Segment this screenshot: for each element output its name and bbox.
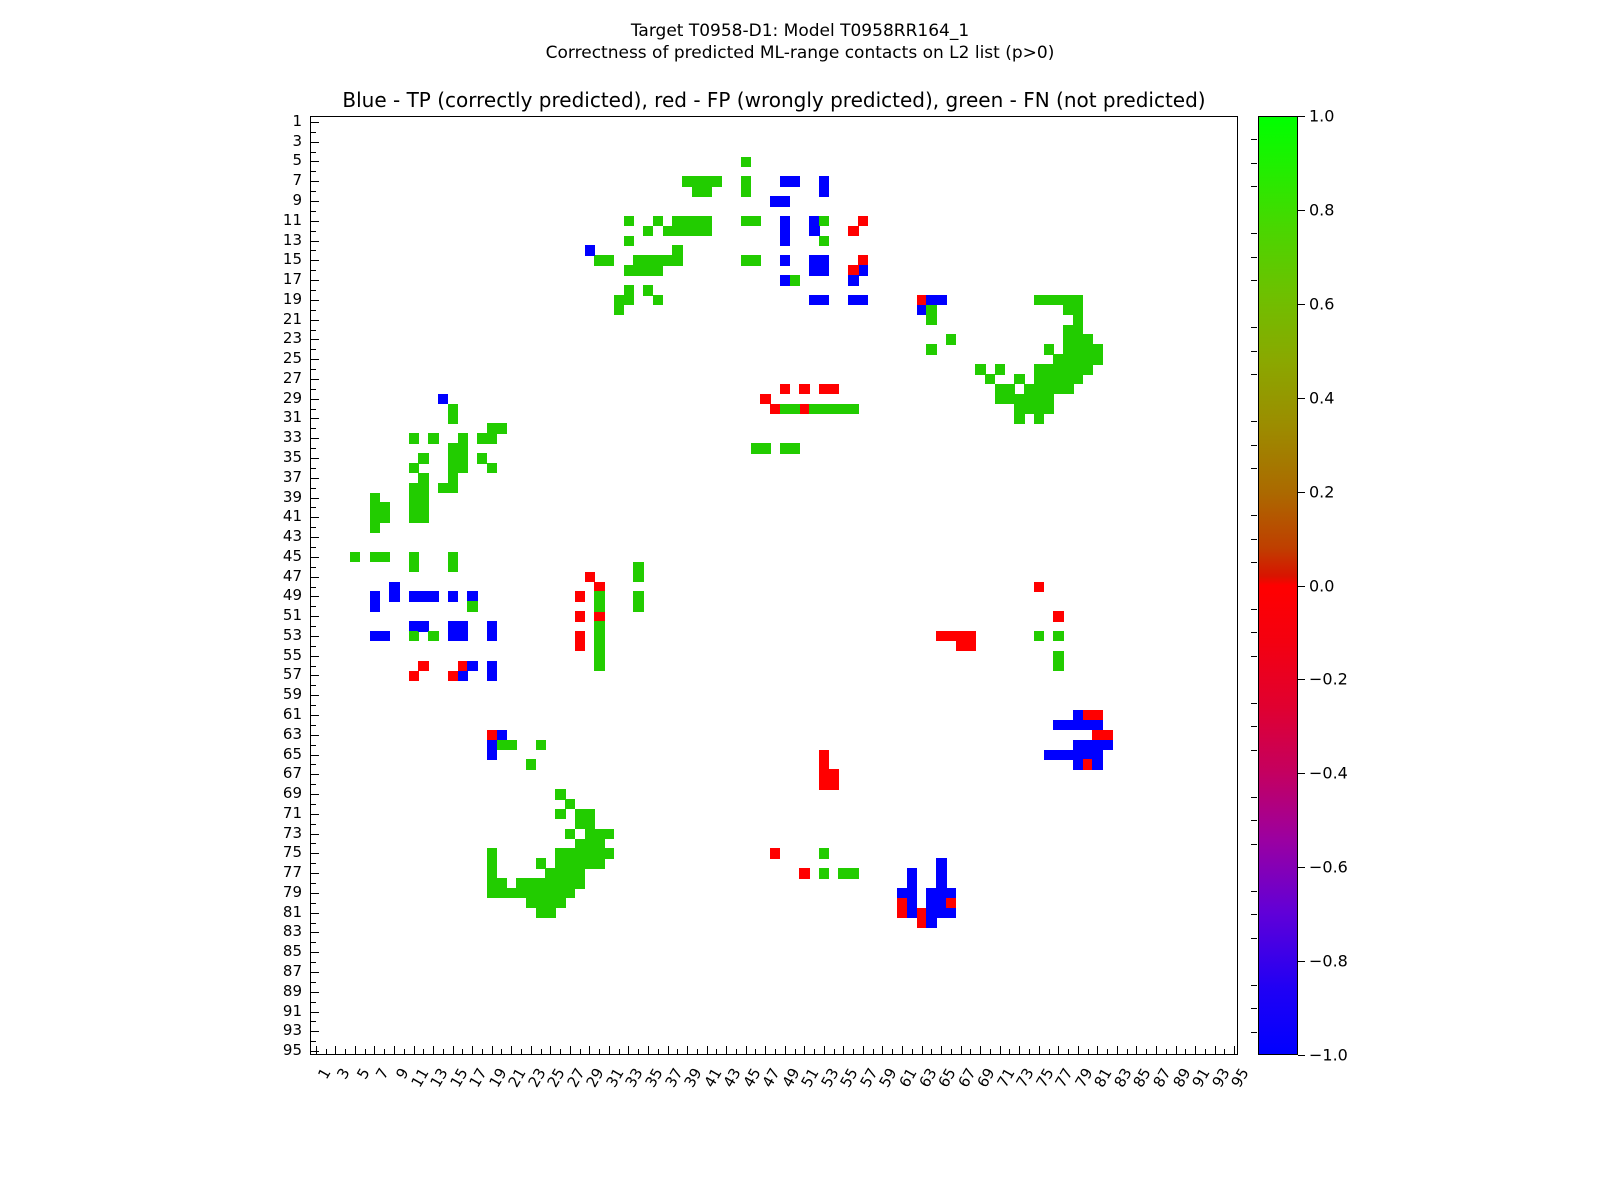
- y-axis-tick: [311, 992, 319, 993]
- contact-cell: [926, 295, 936, 305]
- x-axis-tick: [1058, 1046, 1059, 1054]
- colorbar-minor-tick: [1251, 914, 1257, 915]
- y-axis-tick-label: 95: [250, 1041, 302, 1059]
- x-axis-tick: [726, 1046, 727, 1054]
- y-axis-tick: [311, 369, 316, 370]
- colorbar-minor-tick: [1251, 726, 1257, 727]
- colorbar-tick: [1298, 116, 1305, 117]
- y-axis-tick: [311, 804, 316, 805]
- x-axis-tick: [1146, 1049, 1147, 1054]
- y-axis-tick: [311, 923, 316, 924]
- contact-cell: [1092, 759, 1102, 769]
- y-axis-tick: [311, 438, 319, 439]
- contact-cell: [751, 216, 761, 226]
- contact-cell: [497, 730, 507, 740]
- contact-cell: [819, 236, 829, 246]
- contact-cell: [428, 631, 438, 641]
- contact-cell: [975, 364, 985, 374]
- contact-cell: [438, 483, 448, 493]
- colorbar-tick-label: −0.8: [1309, 952, 1348, 971]
- y-axis-tick: [311, 656, 319, 657]
- contact-cell: [409, 562, 419, 572]
- colorbar-minor-tick: [1251, 1032, 1257, 1033]
- contact-cell: [965, 631, 975, 641]
- contact-cell: [370, 512, 380, 522]
- x-axis-tick: [335, 1046, 336, 1054]
- x-axis-tick: [961, 1046, 962, 1054]
- contact-cell: [487, 463, 497, 473]
- y-axis-tick: [311, 547, 316, 548]
- contact-cell: [1005, 384, 1015, 394]
- contact-cell: [780, 216, 790, 226]
- x-axis-tick: [658, 1049, 659, 1054]
- x-axis-tick: [707, 1046, 708, 1054]
- y-axis-tick: [311, 942, 316, 943]
- x-axis-tick: [326, 1049, 327, 1054]
- contact-cell: [575, 868, 585, 878]
- contact-cell: [624, 295, 634, 305]
- contact-cell: [1034, 414, 1044, 424]
- y-axis-tick: [311, 972, 319, 973]
- contact-cell: [907, 908, 917, 918]
- contact-cell: [389, 591, 399, 601]
- x-axis-tick: [1000, 1046, 1001, 1054]
- x-axis-tick: [394, 1046, 395, 1054]
- contact-cell: [1092, 344, 1102, 354]
- contact-cell: [829, 779, 839, 789]
- contact-cell: [946, 334, 956, 344]
- colorbar-minor-tick: [1251, 938, 1257, 939]
- contact-cell: [692, 186, 702, 196]
- contact-cell: [458, 463, 468, 473]
- contact-cell: [477, 453, 487, 463]
- contact-cell: [770, 848, 780, 858]
- contact-cell: [653, 295, 663, 305]
- contact-cell: [819, 384, 829, 394]
- x-axis-tick: [746, 1046, 747, 1054]
- y-axis-tick: [311, 339, 319, 340]
- contact-cell: [497, 423, 507, 433]
- colorbar-minor-tick: [1251, 351, 1257, 352]
- contact-cell: [653, 216, 663, 226]
- colorbar-minor-tick: [1251, 163, 1257, 164]
- y-axis-tick: [311, 161, 319, 162]
- y-axis-tick: [311, 695, 319, 696]
- contact-cell: [858, 295, 868, 305]
- contact-cell: [1073, 295, 1083, 305]
- colorbar-tick-label: −0.2: [1309, 670, 1348, 689]
- x-axis-tick: [775, 1049, 776, 1054]
- contact-cell: [1014, 414, 1024, 424]
- contact-cell: [1083, 334, 1093, 344]
- contact-cell: [965, 641, 975, 651]
- y-axis-tick: [311, 715, 319, 716]
- contact-cell: [946, 908, 956, 918]
- y-axis-tick: [311, 636, 319, 637]
- contact-cell: [702, 186, 712, 196]
- contact-cell: [829, 384, 839, 394]
- y-axis-tick-label: 73: [250, 824, 302, 842]
- x-axis-tick: [785, 1046, 786, 1054]
- contact-cell: [487, 671, 497, 681]
- contact-cell: [819, 186, 829, 196]
- y-axis-tick: [311, 606, 316, 607]
- y-axis-tick: [311, 527, 316, 528]
- colorbar-minor-tick: [1251, 233, 1257, 234]
- contact-cell: [379, 552, 389, 562]
- x-axis-tick: [453, 1046, 454, 1054]
- y-axis-tick: [311, 666, 316, 667]
- contact-cell: [936, 295, 946, 305]
- colorbar-minor-tick: [1251, 985, 1257, 986]
- contact-cell: [487, 433, 497, 443]
- contact-cell: [370, 522, 380, 532]
- contact-cell: [790, 176, 800, 186]
- y-axis-tick-label: 3: [250, 132, 302, 150]
- contact-cell: [780, 196, 790, 206]
- contact-cell: [760, 394, 770, 404]
- colorbar-tick-label: 1.0: [1309, 107, 1334, 126]
- contact-cell: [555, 789, 565, 799]
- colorbar-tick-label: −0.6: [1309, 858, 1348, 877]
- colorbar-tick-label: 0.8: [1309, 200, 1334, 219]
- y-axis-tick-label: 67: [250, 764, 302, 782]
- y-axis-tick-label: 65: [250, 745, 302, 763]
- x-axis-tick: [580, 1049, 581, 1054]
- contact-cell: [594, 631, 604, 641]
- x-axis-tick: [863, 1046, 864, 1054]
- y-axis-tick: [311, 221, 319, 222]
- contact-cell: [555, 898, 565, 908]
- contact-cell: [1053, 661, 1063, 671]
- x-axis-tick: [492, 1046, 493, 1054]
- y-axis-tick-label: 93: [250, 1021, 302, 1039]
- contact-cell: [1044, 394, 1054, 404]
- contact-cell: [438, 394, 448, 404]
- contact-cell: [819, 265, 829, 275]
- y-axis-tick: [311, 1031, 319, 1032]
- x-axis-tick: [736, 1049, 737, 1054]
- contact-cell: [907, 888, 917, 898]
- y-axis-tick-label: 79: [250, 883, 302, 901]
- x-axis-tick: [1185, 1049, 1186, 1054]
- y-axis-tick-label: 61: [250, 705, 302, 723]
- contact-cell: [594, 601, 604, 611]
- x-axis-tick: [374, 1046, 375, 1054]
- x-axis-tick: [609, 1046, 610, 1054]
- contact-cell: [575, 591, 585, 601]
- contact-cell: [448, 473, 458, 483]
- y-axis-tick: [311, 577, 319, 578]
- y-axis-tick: [311, 152, 316, 153]
- y-axis-tick: [311, 863, 316, 864]
- y-axis-tick-label: 85: [250, 942, 302, 960]
- y-axis-tick-label: 33: [250, 428, 302, 446]
- y-axis-tick-label: 71: [250, 804, 302, 822]
- colorbar-minor-tick: [1251, 186, 1257, 187]
- y-axis-tick: [311, 745, 316, 746]
- x-axis-tick: [1127, 1049, 1128, 1054]
- contact-cell: [448, 591, 458, 601]
- contact-cell: [594, 661, 604, 671]
- y-axis-tick-label: 55: [250, 646, 302, 664]
- colorbar-minor-tick: [1251, 797, 1257, 798]
- y-axis-tick: [311, 735, 319, 736]
- x-axis-tick: [316, 1046, 317, 1054]
- y-axis-tick-label: 57: [250, 665, 302, 683]
- contact-cell: [780, 384, 790, 394]
- contact-cell: [585, 245, 595, 255]
- y-axis-tick: [311, 468, 316, 469]
- x-axis-tick: [365, 1049, 366, 1054]
- colorbar-tick: [1298, 679, 1305, 680]
- x-axis-tick: [1195, 1046, 1196, 1054]
- x-axis-tick: [638, 1049, 639, 1054]
- contact-cell: [956, 631, 966, 641]
- x-axis-tick: [531, 1046, 532, 1054]
- contact-cell: [633, 572, 643, 582]
- contact-cell: [497, 888, 507, 898]
- y-axis-tick-label: 23: [250, 329, 302, 347]
- colorbar-minor-tick: [1251, 139, 1257, 140]
- plot-area: [310, 116, 1238, 1055]
- contact-cell: [848, 404, 858, 414]
- contact-cell: [487, 848, 497, 858]
- contact-cell: [780, 226, 790, 236]
- contact-cell: [379, 631, 389, 641]
- colorbar-minor-tick: [1251, 609, 1257, 610]
- contact-cell: [819, 216, 829, 226]
- y-axis-tick: [311, 399, 319, 400]
- colorbar-tick: [1298, 210, 1305, 211]
- y-axis-tick: [311, 843, 316, 844]
- y-axis-tick: [311, 478, 319, 479]
- contact-cell: [575, 641, 585, 651]
- contact-cell: [594, 858, 604, 868]
- contact-cell: [467, 661, 477, 671]
- contact-cell: [653, 265, 663, 275]
- y-axis-tick: [311, 646, 316, 647]
- y-axis-tick: [311, 913, 319, 914]
- x-axis-tick: [765, 1046, 766, 1054]
- y-axis-tick: [311, 853, 319, 854]
- colorbar-tick: [1298, 867, 1305, 868]
- contact-cell: [409, 512, 419, 522]
- contact-cell: [741, 157, 751, 167]
- contact-cell: [575, 878, 585, 888]
- x-axis-tick: [521, 1049, 522, 1054]
- contact-cell: [702, 176, 712, 186]
- colorbar-tick-label: −0.4: [1309, 764, 1348, 783]
- x-axis-tick: [384, 1049, 385, 1054]
- contact-cell: [418, 483, 428, 493]
- colorbar-minor-tick: [1251, 703, 1257, 704]
- contact-cell: [760, 443, 770, 453]
- y-axis-tick: [311, 873, 319, 874]
- y-axis-tick: [311, 952, 319, 953]
- x-axis-tick: [941, 1046, 942, 1054]
- contact-cell: [594, 651, 604, 661]
- colorbar-minor-tick: [1251, 257, 1257, 258]
- y-axis-tick: [311, 883, 316, 884]
- y-axis-tick: [311, 458, 319, 459]
- contact-cell: [780, 255, 790, 265]
- y-axis-tick-label: 19: [250, 290, 302, 308]
- x-axis-tick: [560, 1049, 561, 1054]
- y-axis-tick-label: 51: [250, 606, 302, 624]
- y-axis-tick-label: 43: [250, 527, 302, 545]
- y-axis-tick: [311, 260, 319, 261]
- x-axis-tick: [462, 1049, 463, 1054]
- contact-cell: [672, 245, 682, 255]
- x-axis-tick: [1078, 1046, 1079, 1054]
- x-axis-tick: [716, 1049, 717, 1054]
- y-axis-tick: [311, 1021, 316, 1022]
- contact-cell: [526, 759, 536, 769]
- x-axis-tick: [423, 1049, 424, 1054]
- y-axis-tick: [311, 428, 316, 429]
- x-axis-tick: [472, 1046, 473, 1054]
- contact-cell: [819, 176, 829, 186]
- contact-cell: [1102, 730, 1112, 740]
- y-axis-tick-label: 53: [250, 626, 302, 644]
- y-axis-tick: [311, 567, 316, 568]
- x-axis-tick: [931, 1049, 932, 1054]
- contact-cell: [428, 433, 438, 443]
- figure-title-line-1: Target T0958-D1: Model T0958RR164_1: [0, 20, 1600, 42]
- contact-cell: [819, 750, 829, 760]
- x-axis-tick: [912, 1049, 913, 1054]
- contact-cell: [409, 433, 419, 443]
- contact-cell: [829, 404, 839, 414]
- contact-cell: [858, 265, 868, 275]
- y-axis-tick: [311, 270, 316, 271]
- contact-cell: [790, 275, 800, 285]
- contact-cell: [418, 661, 428, 671]
- y-axis-tick: [311, 241, 319, 242]
- contact-cell: [467, 601, 477, 611]
- x-axis-tick: [619, 1049, 620, 1054]
- y-axis-tick: [311, 596, 319, 597]
- contact-cell: [643, 226, 653, 236]
- y-axis-tick-label: 69: [250, 784, 302, 802]
- contact-cell: [672, 255, 682, 265]
- y-axis-tick: [311, 893, 319, 894]
- y-axis-tick: [311, 517, 319, 518]
- y-axis-tick: [311, 824, 316, 825]
- contact-cell: [790, 443, 800, 453]
- y-axis-tick-label: 77: [250, 863, 302, 881]
- contact-cell: [633, 601, 643, 611]
- y-axis-tick-label: 63: [250, 725, 302, 743]
- y-axis-tick: [311, 557, 319, 558]
- contact-cell: [565, 829, 575, 839]
- contact-map-figure: Target T0958-D1: Model T0958RR164_1 Corr…: [0, 0, 1600, 1200]
- contact-cell: [594, 848, 604, 858]
- x-axis-tick: [1097, 1046, 1098, 1054]
- contact-cell: [545, 908, 555, 918]
- contact-cell: [487, 661, 497, 671]
- contact-cell: [448, 414, 458, 424]
- y-axis-tick-label: 27: [250, 369, 302, 387]
- contact-cell: [536, 740, 546, 750]
- contact-cell: [428, 591, 438, 601]
- contact-cell: [848, 868, 858, 878]
- y-axis-tick: [311, 379, 319, 380]
- x-axis-tick: [589, 1046, 590, 1054]
- colorbar-minor-tick: [1251, 844, 1257, 845]
- y-axis-tick: [311, 903, 316, 904]
- colorbar-minor-tick: [1251, 468, 1257, 469]
- colorbar-tick: [1298, 773, 1305, 774]
- y-axis-tick: [311, 320, 319, 321]
- x-axis-tick: [1107, 1049, 1108, 1054]
- contact-cell: [995, 364, 1005, 374]
- y-axis-tick-label: 35: [250, 448, 302, 466]
- contact-cell: [702, 216, 712, 226]
- contact-cell: [594, 582, 604, 592]
- x-axis-tick: [482, 1049, 483, 1054]
- figure-title-line-2: Correctness of predicted ML-range contac…: [0, 42, 1600, 64]
- y-axis-tick-label: 41: [250, 507, 302, 525]
- y-axis-tick-label: 5: [250, 151, 302, 169]
- y-axis-tick-label: 37: [250, 468, 302, 486]
- y-axis-tick: [311, 616, 319, 617]
- y-axis-tick-label: 91: [250, 1002, 302, 1020]
- contact-cell: [1053, 611, 1063, 621]
- x-axis-tick: [1205, 1049, 1206, 1054]
- contact-cell: [594, 611, 604, 621]
- contact-cell: [487, 631, 497, 641]
- y-axis-tick: [311, 211, 316, 212]
- contact-cell: [926, 344, 936, 354]
- contact-cell: [624, 216, 634, 226]
- contact-cell: [799, 384, 809, 394]
- figure-title: Target T0958-D1: Model T0958RR164_1 Corr…: [0, 20, 1600, 64]
- y-axis-tick-label: 1: [250, 112, 302, 130]
- y-axis-tick: [311, 142, 319, 143]
- x-axis-tick: [501, 1049, 502, 1054]
- y-axis-tick-label: 47: [250, 567, 302, 585]
- contact-cell: [614, 305, 624, 315]
- x-axis-tick: [795, 1049, 796, 1054]
- y-axis-tick: [311, 418, 319, 419]
- x-axis-tick: [345, 1049, 346, 1054]
- contact-cell: [555, 809, 565, 819]
- x-axis-tick: [433, 1046, 434, 1054]
- y-axis-tick: [311, 755, 319, 756]
- contact-cell: [829, 769, 839, 779]
- contact-cell: [585, 572, 595, 582]
- x-axis-tick: [843, 1046, 844, 1054]
- y-axis-tick: [311, 774, 319, 775]
- x-axis-tick: [755, 1049, 756, 1054]
- y-axis-tick: [311, 171, 316, 172]
- contact-cell: [448, 483, 458, 493]
- contact-cell: [1063, 384, 1073, 394]
- x-axis-tick: [814, 1049, 815, 1054]
- contact-cell: [1034, 631, 1044, 641]
- y-axis-tick-label: 83: [250, 922, 302, 940]
- contact-cell: [819, 868, 829, 878]
- contact-cell: [926, 315, 936, 325]
- y-axis-tick: [311, 201, 319, 202]
- y-axis-tick: [311, 300, 319, 301]
- contact-cell: [487, 750, 497, 760]
- y-axis-tick: [311, 359, 319, 360]
- colorbar-minor-tick: [1251, 820, 1257, 821]
- y-axis-tick-label: 21: [250, 310, 302, 328]
